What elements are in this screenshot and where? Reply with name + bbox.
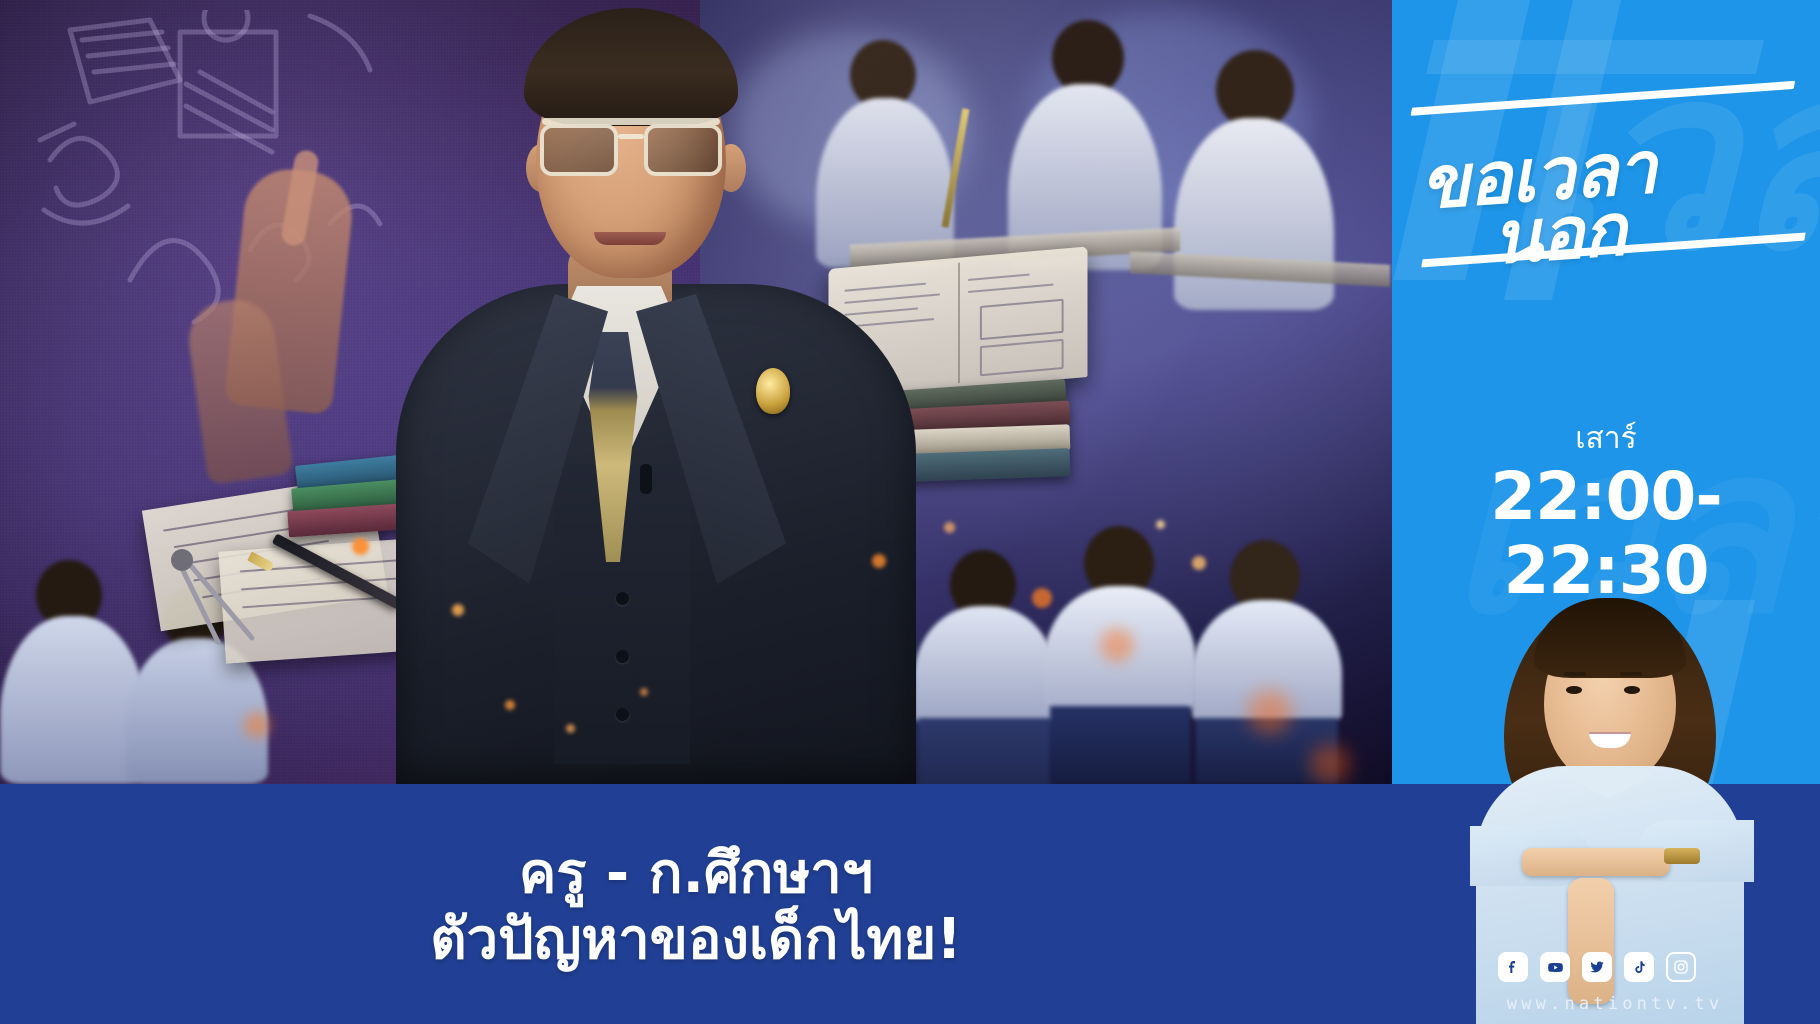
- broadcast-promo-graphic: เวลา เวลา ขอเวลา นอก เสาร์ 22:00-22:30 ค…: [0, 0, 1820, 1024]
- social-links[interactable]: [1498, 950, 1718, 984]
- presenter-fringe: [1534, 598, 1686, 678]
- program-photo-collage: [0, 0, 1392, 784]
- instagram-icon[interactable]: [1666, 952, 1696, 982]
- lapel-microphone: [640, 464, 652, 494]
- presenter-hand-vertical: [1568, 878, 1614, 1004]
- presenter-eyebrow: [1564, 672, 1586, 676]
- presenter-hand-horizontal: [1522, 848, 1670, 876]
- vest-button: [616, 592, 629, 605]
- headline-line-1: ครู - ก.ศึกษาฯ: [519, 842, 873, 906]
- program-logo-line2: นอก: [1488, 171, 1629, 295]
- episode-headline: ครู - ก.ศึกษาฯ ตัวปัญหาของเด็กไทย!: [0, 790, 1392, 1024]
- presenter-eye: [1624, 686, 1640, 694]
- tiktok-icon[interactable]: [1624, 952, 1654, 982]
- mouth: [594, 232, 666, 245]
- program-logo: ขอเวลา นอก: [1408, 73, 1811, 272]
- aviator-glasses-icon: [540, 116, 722, 178]
- facebook-icon[interactable]: [1498, 952, 1528, 982]
- vest-button: [616, 708, 629, 721]
- vest-button: [616, 650, 629, 663]
- wristwatch: [1664, 848, 1700, 864]
- broadcast-day: เสาร์: [1392, 424, 1820, 454]
- presenter-eyebrow: [1620, 672, 1642, 676]
- lapel-pin: [756, 368, 790, 414]
- website-url[interactable]: www.nationtv.tv: [1470, 994, 1760, 1014]
- presenter-eye: [1566, 686, 1582, 694]
- headline-line-2: ตัวปัญหาของเด็กไทย!: [430, 908, 962, 972]
- twitter-icon[interactable]: [1582, 952, 1612, 982]
- hair: [524, 8, 738, 126]
- youtube-icon[interactable]: [1540, 952, 1570, 982]
- main-subject-portrait: [318, 0, 978, 784]
